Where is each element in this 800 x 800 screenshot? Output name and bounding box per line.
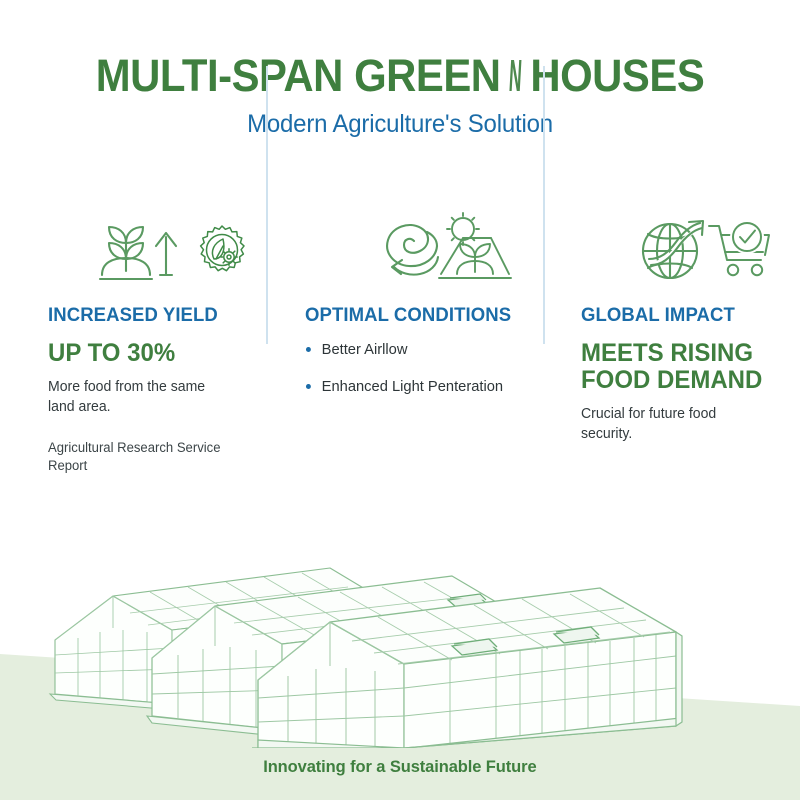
column-eyebrow: OPTIMAL CONDITIONS bbox=[305, 304, 511, 327]
footer-tagline: Innovating for a Sustainable Future bbox=[263, 757, 536, 777]
column-bullet-list: Better Airllow Enhanced Light Penteratio… bbox=[305, 340, 522, 396]
greenhouse-sun-plant-icon bbox=[435, 212, 517, 289]
cart-check-icon bbox=[707, 218, 775, 285]
column-body-text: More food from the same land area. bbox=[48, 377, 232, 417]
poster-footer: Innovating for a Sustainable Future bbox=[0, 757, 800, 777]
page-title: MULTI-SPAN GREENNHOUSES bbox=[28, 52, 772, 99]
poster-header: MULTI-SPAN GREENNHOUSES Modern Agricultu… bbox=[0, 52, 800, 139]
leaf-gear-seal-icon bbox=[196, 224, 248, 281]
column-caption: Agricultural Research Service Report bbox=[48, 439, 232, 476]
title-glitch-artifact: N bbox=[508, 52, 523, 99]
feature-columns: INCREASED YIELD UP TO 30% More food from… bbox=[0, 210, 800, 510]
title-part-two: HOUSES bbox=[530, 50, 704, 101]
multi-span-greenhouse-illustration bbox=[0, 508, 800, 748]
column-eyebrow: INCREASED YIELD bbox=[48, 304, 228, 327]
list-item: Enhanced Light Penteration bbox=[305, 377, 518, 397]
column-body-text: Crucial for future food security. bbox=[581, 404, 765, 444]
column-eyebrow: GLOBAL IMPACT bbox=[581, 304, 761, 327]
title-part-one: MULTI-SPAN GREEN bbox=[96, 50, 501, 101]
list-item: Better Airllow bbox=[305, 340, 518, 360]
column-stat: MEETS RISING FOOD DEMAND bbox=[581, 340, 763, 394]
column-stat: UP TO 30% bbox=[48, 340, 230, 367]
column-divider-1 bbox=[266, 66, 268, 344]
column-divider-2 bbox=[543, 66, 545, 344]
page-subtitle: Modern Agriculture's Solution bbox=[16, 110, 784, 139]
infographic-poster: MULTI-SPAN GREENNHOUSES Modern Agricultu… bbox=[0, 0, 800, 800]
